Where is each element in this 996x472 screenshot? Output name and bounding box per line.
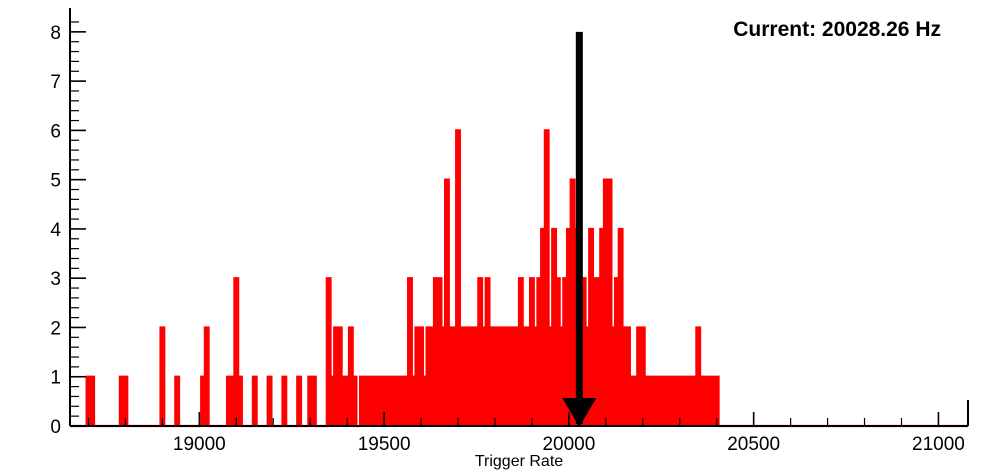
x-tick-label: 20500 [727, 434, 780, 455]
y-tick-label: 6 [50, 121, 61, 142]
histogram-canvas: 0123456781900019500200002050021000Trigge… [0, 0, 996, 472]
y-tick-label: 8 [50, 23, 61, 44]
x-tick-label: 19500 [358, 434, 411, 455]
histogram-bars [87, 130, 719, 426]
y-tick-label: 7 [50, 72, 61, 93]
chart-title: Current: 20028.26 Hz [733, 18, 941, 41]
y-tick-label: 0 [50, 417, 61, 438]
y-tick-label: 2 [50, 318, 61, 339]
y-tick-label: 5 [50, 171, 61, 192]
y-tick-label: 1 [50, 368, 61, 389]
x-axis-title: Trigger Rate [475, 453, 563, 470]
trigger-rate-histogram: 0123456781900019500200002050021000Trigge… [0, 0, 996, 472]
histogram-outline [70, 130, 968, 426]
x-tick-label: 21000 [912, 434, 965, 455]
x-tick-label: 19000 [173, 434, 226, 455]
y-tick-label: 4 [50, 220, 61, 241]
y-tick-label: 3 [50, 269, 61, 290]
x-tick-label: 20000 [542, 434, 595, 455]
